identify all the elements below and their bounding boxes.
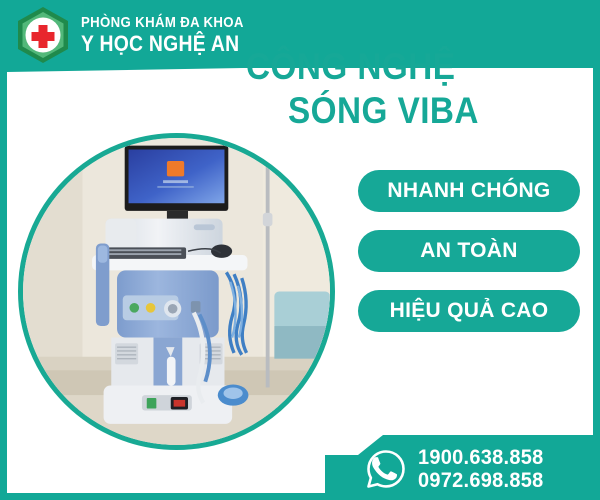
clinic-line2: Y HỌC NGHỆ AN [81, 33, 244, 55]
contact-row: 1900.638.858 0972.698.858 [365, 446, 550, 492]
headline-line2: SÓNG VIBA [288, 92, 561, 130]
clinic-line1: PHÒNG KHÁM ĐA KHOA [81, 15, 244, 30]
clinic-name-text: PHÒNG KHÁM ĐA KHOA Y HỌC NGHỆ AN [81, 15, 266, 55]
red-cross-hexagon-icon [14, 6, 72, 64]
feature-pill-an-toan[interactable]: AN TOÀN [358, 230, 580, 272]
clinic-logo-block: PHÒNG KHÁM ĐA KHOA Y HỌC NGHỆ AN [14, 6, 266, 64]
photo-image [23, 138, 330, 445]
phone-number-secondary[interactable]: 0972.698.858 [418, 469, 543, 492]
headline: CÔNG NGHỆ SÓNG VIBA [246, 48, 591, 129]
feature-pill-hieu-qua-cao[interactable]: HIỆU QUẢ CAO [358, 290, 580, 332]
headline-line1: CÔNG NGHỆ [246, 48, 557, 86]
promo-banner: PHÒNG KHÁM ĐA KHOA Y HỌC NGHỆ AN [0, 0, 600, 500]
feature-list: NHANH CHÓNG AN TOÀN HIỆU QUẢ CAO [358, 170, 580, 332]
phone-number-primary[interactable]: 1900.638.858 [418, 446, 543, 469]
medical-device-photo [18, 133, 335, 450]
whatsapp-phone-icon[interactable] [365, 448, 407, 490]
feature-pill-nhanh-chong[interactable]: NHANH CHÓNG [358, 170, 580, 212]
phone-numbers: 1900.638.858 0972.698.858 [418, 446, 550, 492]
